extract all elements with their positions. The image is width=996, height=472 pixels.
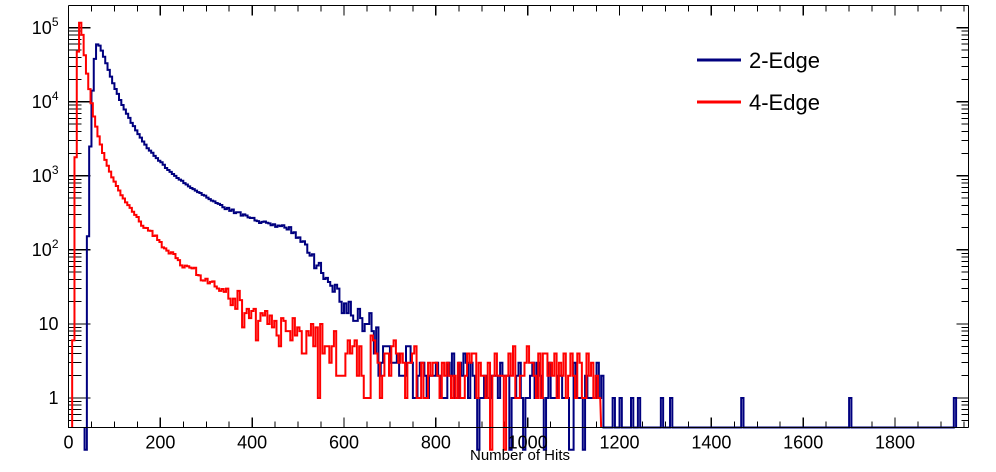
x-tick-label: 200 [145,433,175,453]
x-tick-label: 1600 [783,433,823,453]
x-tick-label: 400 [237,433,267,453]
legend-label-4-edge: 4-Edge [749,90,820,115]
x-axis-title: Number of Hits [470,447,570,464]
plot-canvas: 020040060080010001200140016001800 110102… [0,0,996,472]
legend-label-2-edge: 2-Edge [749,48,820,73]
x-tick-label: 1200 [599,433,639,453]
x-tick-label: 0 [63,433,73,453]
histogram-plot: 020040060080010001200140016001800 110102… [0,0,996,472]
y-tick-label: 1 [48,388,58,408]
x-tick-label: 1400 [691,433,731,453]
x-tick-label: 1800 [875,433,915,453]
x-tick-label: 600 [329,433,359,453]
x-tick-label: 800 [421,433,451,453]
plot-background [0,0,996,472]
y-tick-label: 10 [38,314,58,334]
